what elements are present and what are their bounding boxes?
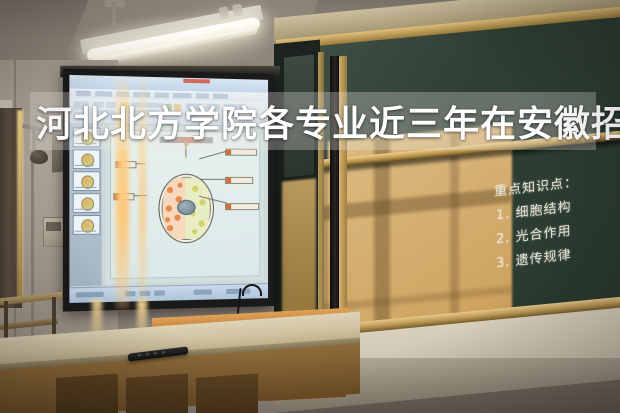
callout-label-right-bottom [225, 203, 259, 210]
classroom-photo: 重点知识点： 1. 细胞结构 2. 光合作用 3. 遗传规律 [0, 0, 620, 413]
desk-drawer-3 [196, 373, 258, 413]
slide-thumbnail[interactable] [73, 171, 101, 191]
cell-diagram [158, 174, 213, 244]
callout-label-right-mid [225, 177, 253, 184]
bench-shelf [0, 318, 58, 330]
slide-thumbnail[interactable] [73, 149, 101, 169]
callout-line-right-top [199, 151, 227, 160]
callout-label-left-bottom [113, 193, 134, 200]
app-logo-icon [183, 79, 210, 84]
desk-drawer-1 [56, 373, 118, 413]
window-shadow-vertical-2 [450, 133, 459, 330]
desk-drawer-2 [126, 373, 188, 413]
headline-text: 河北北方学院各专业近三年在安徽招生 [36, 97, 596, 145]
callout-line-right-mid [201, 179, 225, 180]
wall-control-box-panel [46, 222, 61, 231]
curtain-light-edge [17, 110, 23, 300]
cell-nucleus [177, 199, 195, 214]
current-slide[interactable] [110, 130, 260, 279]
slide-thumbnail[interactable] [73, 215, 101, 235]
lamp-rod [112, 2, 116, 26]
slide-thumbnail[interactable] [73, 193, 101, 213]
callout-label-left-top [115, 161, 136, 168]
security-camera-icon [30, 150, 48, 164]
doorway-sunlit-lower [282, 178, 316, 331]
